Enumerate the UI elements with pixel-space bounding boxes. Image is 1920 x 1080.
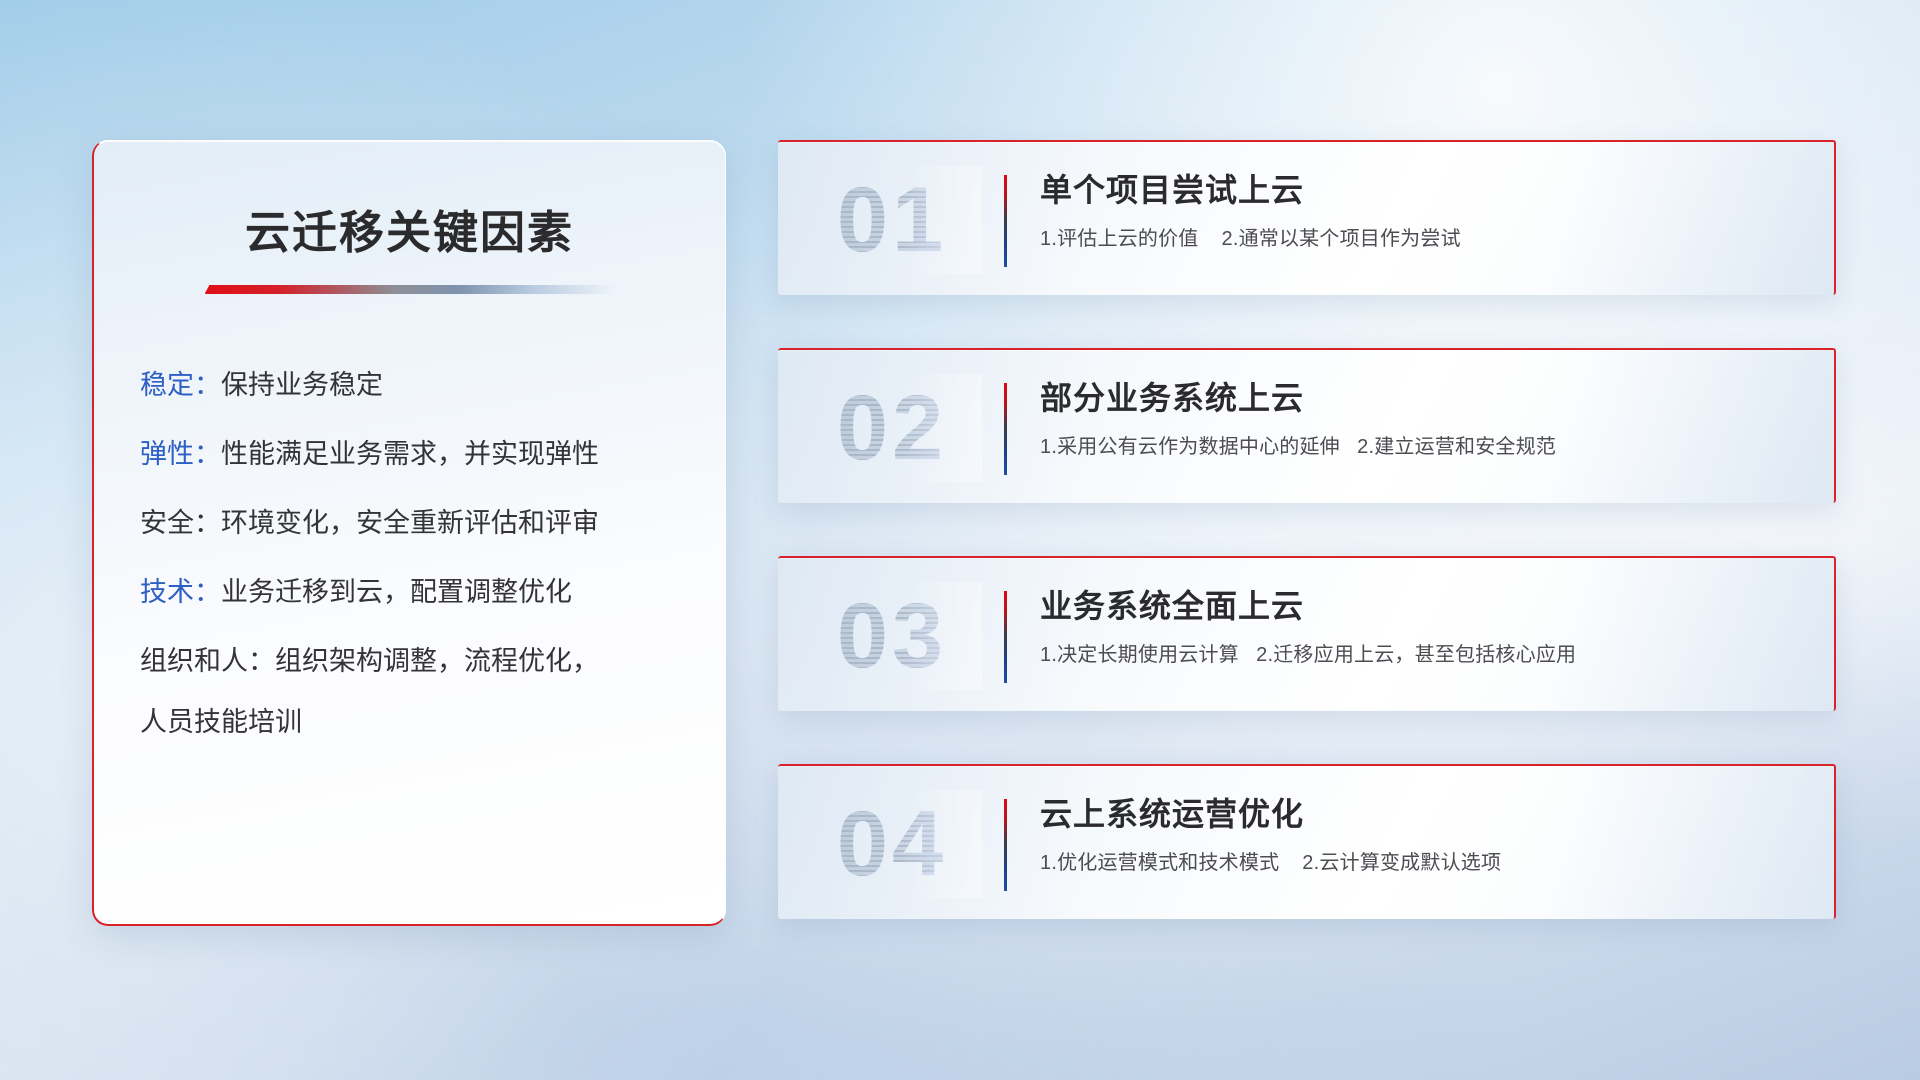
card-subtitle: 1.决定长期使用云计算 2.迁移应用上云，甚至包括核心应用 — [1040, 642, 1804, 668]
page-title: 云迁移关键因素 — [94, 196, 725, 261]
list-item-value: 业务迁移到云，配置调整优化 — [221, 577, 572, 607]
list-item-label: 组织和人： — [140, 646, 275, 676]
list-item-value: 性能满足业务需求，并实现弹性 — [221, 439, 599, 469]
card-title: 单个项目尝试上云 — [1040, 170, 1804, 210]
stage-number: 04 — [802, 790, 982, 898]
stage-number: 01 — [802, 166, 982, 274]
list-item-value: 组织架构调整，流程优化， — [275, 646, 599, 676]
card-divider-accent — [1004, 591, 1007, 683]
list-item-label: 技术： — [140, 577, 221, 607]
list-item-value: 环境变化，安全重新评估和评审 — [221, 508, 599, 538]
card-text-block: 业务系统全面上云 1.决定长期使用云计算 2.迁移应用上云，甚至包括核心应用 — [1040, 586, 1804, 668]
stage-card[interactable]: 01 单个项目尝试上云 1.评估上云的价值 2.通常以某个项目作为尝试 — [778, 140, 1836, 295]
stage-number: 03 — [802, 582, 982, 690]
card-divider-accent — [1004, 175, 1007, 267]
stage-card[interactable]: 04 云上系统运营优化 1.优化运营模式和技术模式 2.云计算变成默认选项 — [778, 764, 1836, 919]
key-factors-panel: 云迁移关键因素 稳定：保持业务稳定 弹性：性能满足业务需求，并实现弹性 安全：环… — [92, 140, 726, 926]
migration-stage-cards: 01 单个项目尝试上云 1.评估上云的价值 2.通常以某个项目作为尝试 02 部… — [778, 140, 1836, 919]
card-title: 云上系统运营优化 — [1040, 794, 1804, 834]
card-subtitle: 1.评估上云的价值 2.通常以某个项目作为尝试 — [1040, 226, 1804, 252]
list-item-label: 安全： — [140, 508, 221, 538]
card-text-block: 单个项目尝试上云 1.评估上云的价值 2.通常以某个项目作为尝试 — [1040, 170, 1804, 252]
list-item-label: 稳定： — [140, 370, 221, 400]
list-item-value: 人员技能培训 — [140, 707, 302, 737]
card-title: 部分业务系统上云 — [1040, 378, 1804, 418]
stage-number: 02 — [802, 374, 982, 482]
list-item: 弹性：性能满足业务需求，并实现弹性 — [140, 441, 683, 468]
list-item: 组织和人：组织架构调整，流程优化， — [140, 648, 683, 675]
list-item: 安全：环境变化，安全重新评估和评审 — [140, 510, 683, 537]
list-item: 技术：业务迁移到云，配置调整优化 — [140, 579, 683, 606]
list-item-continuation: 人员技能培训 — [140, 709, 683, 736]
title-underline-accent — [205, 285, 615, 294]
list-item-label: 弹性： — [140, 439, 221, 469]
card-divider-accent — [1004, 799, 1007, 891]
stage-card[interactable]: 02 部分业务系统上云 1.采用公有云作为数据中心的延伸 2.建立运营和安全规范 — [778, 348, 1836, 503]
list-item-value: 保持业务稳定 — [221, 370, 383, 400]
card-divider-accent — [1004, 383, 1007, 475]
key-factors-list: 稳定：保持业务稳定 弹性：性能满足业务需求，并实现弹性 安全：环境变化，安全重新… — [94, 372, 725, 736]
card-title: 业务系统全面上云 — [1040, 586, 1804, 626]
card-text-block: 云上系统运营优化 1.优化运营模式和技术模式 2.云计算变成默认选项 — [1040, 794, 1804, 876]
stage-card[interactable]: 03 业务系统全面上云 1.决定长期使用云计算 2.迁移应用上云，甚至包括核心应… — [778, 556, 1836, 711]
card-subtitle: 1.优化运营模式和技术模式 2.云计算变成默认选项 — [1040, 850, 1804, 876]
card-subtitle: 1.采用公有云作为数据中心的延伸 2.建立运营和安全规范 — [1040, 434, 1804, 460]
list-item: 稳定：保持业务稳定 — [140, 372, 683, 399]
card-text-block: 部分业务系统上云 1.采用公有云作为数据中心的延伸 2.建立运营和安全规范 — [1040, 378, 1804, 460]
